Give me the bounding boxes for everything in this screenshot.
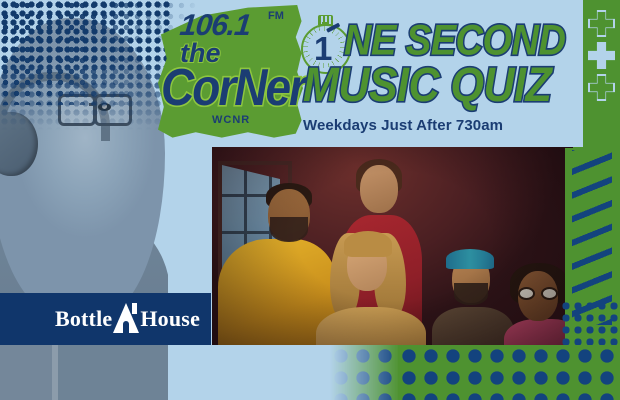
logo-band-label: FM xyxy=(268,10,284,22)
logo-call-sign: WCNR xyxy=(212,114,250,126)
bottom-left-strip xyxy=(0,345,52,400)
halftone-dots-bottom xyxy=(398,345,620,400)
headline-line-1: NE SECOND xyxy=(344,20,565,63)
cross-icon-2 xyxy=(588,42,615,69)
sponsor-word-2: House xyxy=(140,306,200,332)
logo-name: CorNer xyxy=(161,57,305,117)
sponsor-bar: Bottle House xyxy=(0,293,211,345)
sponsor-word-1: Bottle xyxy=(55,306,112,332)
band-photo xyxy=(212,147,573,345)
band-photo-vignette xyxy=(212,147,573,345)
diagonal-stripes xyxy=(572,150,612,325)
bottom-left-strip-edge xyxy=(52,345,58,400)
cross-icon-1 xyxy=(588,10,615,37)
cross-icon-3 xyxy=(588,74,615,101)
halftone-dots-bottom-fade xyxy=(330,345,400,400)
headline-line-2: MUSIC QUIZ xyxy=(303,62,551,110)
station-logo: 106.1 FM the CorNer WCNR xyxy=(158,2,303,142)
house-icon xyxy=(113,303,139,333)
headline-tagline: Weekdays Just After 730am xyxy=(303,117,503,134)
poster-canvas: 106.1 FM the CorNer WCNR 1 NE SECOND MUS… xyxy=(0,0,620,400)
